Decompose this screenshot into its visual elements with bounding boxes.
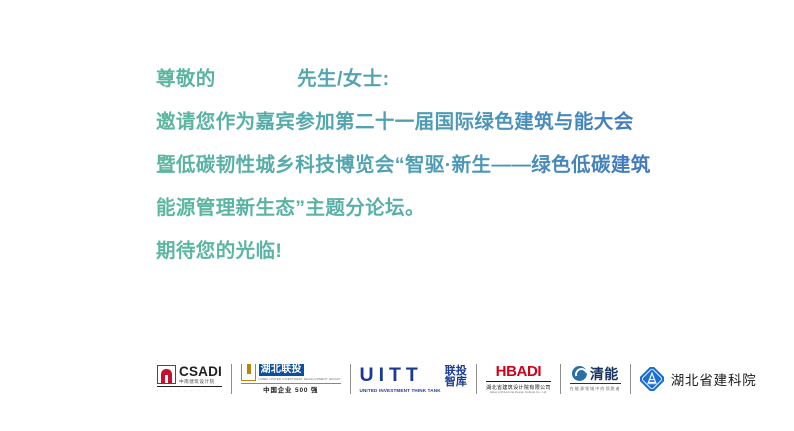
csadi-cn-label: 中南建筑设计院	[179, 380, 222, 385]
liantou-cn-label: 湖北联投	[259, 364, 304, 377]
uitt-cn-label: 联投智库	[445, 366, 467, 389]
sponsor-logo-strip: CSADI 中南建筑设计院 · · · · · · · · 湖北联投 HUBEI…	[148, 358, 766, 400]
logo-csadi: CSADI 中南建筑设计院 · · · · · · · ·	[148, 360, 231, 398]
logo-hbadi: HBADI 湖北省建筑设计院有限公司 Hubei Architectural D…	[477, 360, 560, 398]
jianke-diamond-icon	[640, 367, 664, 391]
qingneng-cn-label: 清能	[590, 367, 619, 381]
logo-hubei-jianke: 湖北省建科院	[631, 360, 766, 398]
logo-hubei-liantou: 湖北联投 HUBEI UNITED INVESTMENT DEVELOPMENT…	[232, 360, 349, 398]
qingneng-divider	[570, 383, 621, 384]
invitation-line-greeting: 尊敬的 先生/女士:	[156, 58, 756, 101]
hbadi-en-label: HBADI	[496, 364, 542, 379]
liantou-divider	[241, 383, 340, 384]
uitt-en-full-label: UNITED INVESTMENT THINK TANK	[360, 388, 441, 393]
invitation-line-1: 邀请您作为嘉宾参加第二十一届国际绿色建筑与能大会	[156, 101, 756, 144]
qingneng-slogan: 在能源领域中的领跑者	[570, 386, 621, 392]
csadi-dot-row: · · · · · · · ·	[157, 388, 208, 393]
jianke-cn-label: 湖北省建科院	[671, 369, 757, 389]
liantou-pillar-icon	[241, 364, 256, 381]
invitation-line-2: 暨低碳韧性城乡科技博览会“智驱·新生——绿色低碳建筑	[156, 144, 756, 187]
csadi-arch-icon	[157, 365, 176, 384]
invitation-slide: 尊敬的 先生/女士: 邀请您作为嘉宾参加第二十一届国际绿色建筑与能大会 暨低碳韧…	[0, 0, 794, 431]
csadi-en-label: CSADI	[179, 365, 222, 379]
csadi-divider	[157, 386, 222, 387]
liantou-en-label: HUBEI UNITED INVESTMENT DEVELOPMENT GROU…	[259, 377, 341, 381]
liantou-slogan: 中国企业 500 强	[263, 385, 318, 394]
invitation-line-3: 能源管理新生态”主题分论坛。	[156, 187, 756, 230]
hbadi-en-sub-label: Hubei Architectural Design Institute Co.…	[490, 391, 547, 394]
logo-uitt: UITT UNITED INVESTMENT THINK TANK 联投智库	[351, 360, 477, 398]
hbadi-divider	[486, 381, 551, 382]
invitation-text-block: 尊敬的 先生/女士: 邀请您作为嘉宾参加第二十一届国际绿色建筑与能大会 暨低碳韧…	[156, 58, 756, 273]
invitation-line-closing: 期待您的光临!	[156, 230, 756, 273]
uitt-en-label: UITT	[360, 366, 441, 386]
qingneng-wave-icon	[572, 366, 587, 381]
logo-qingneng: 清能 在能源领域中的领跑者	[561, 360, 630, 398]
hbadi-cn-label: 湖北省建筑设计院有限公司	[486, 384, 551, 391]
